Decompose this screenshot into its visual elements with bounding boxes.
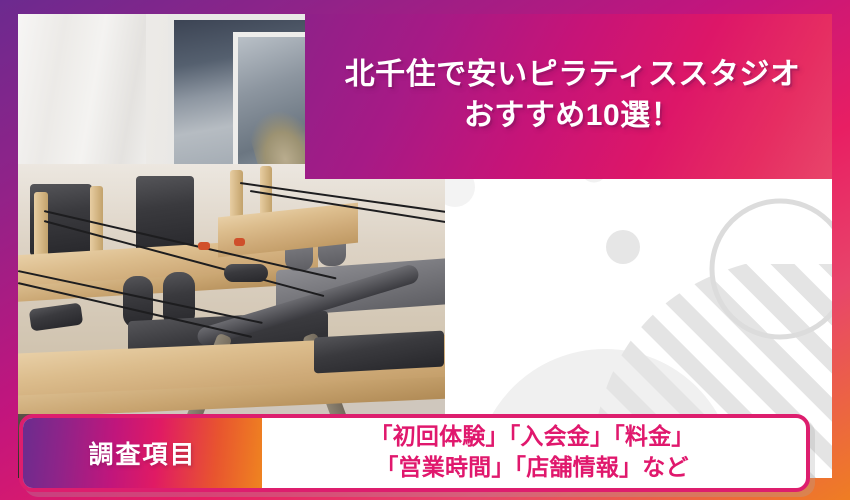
survey-items-bar: 調査項目 「初回体験」「入会金」「料金」 「営業時間」「店舗情報」など [19,414,810,492]
decor-dot [606,230,640,264]
survey-items-line-2: 「営業時間」「店舗情報」など [375,452,688,483]
title-line-1: 北千住で安いピラティススタジオ [345,55,801,96]
title-line-2: おすすめ10選！ [464,96,681,137]
photo-front-pad-right [314,331,444,374]
photo-spring-clip-2 [234,238,245,246]
survey-items-box: 「初回体験」「入会金」「料金」 「営業時間」「店舗情報」など [262,418,806,488]
thumbnail-banner: 北千住で安いピラティススタジオ おすすめ10選！ [0,0,850,500]
survey-label-box: 調査項目 [23,418,262,488]
photo-strap-loop [224,264,268,282]
survey-items-line-1: 「初回体験」「入会金」「料金」 [370,421,695,452]
inner-card: 北千住で安いピラティススタジオ おすすめ10選！ [18,14,832,478]
photo-spring-clip [198,242,210,250]
survey-label-text: 調査項目 [88,435,196,471]
decor-dot-small [445,179,475,207]
decor-diagonal-bar [576,179,764,188]
header-title-panel: 北千住で安いピラティススタジオ おすすめ10選！ [305,14,832,179]
